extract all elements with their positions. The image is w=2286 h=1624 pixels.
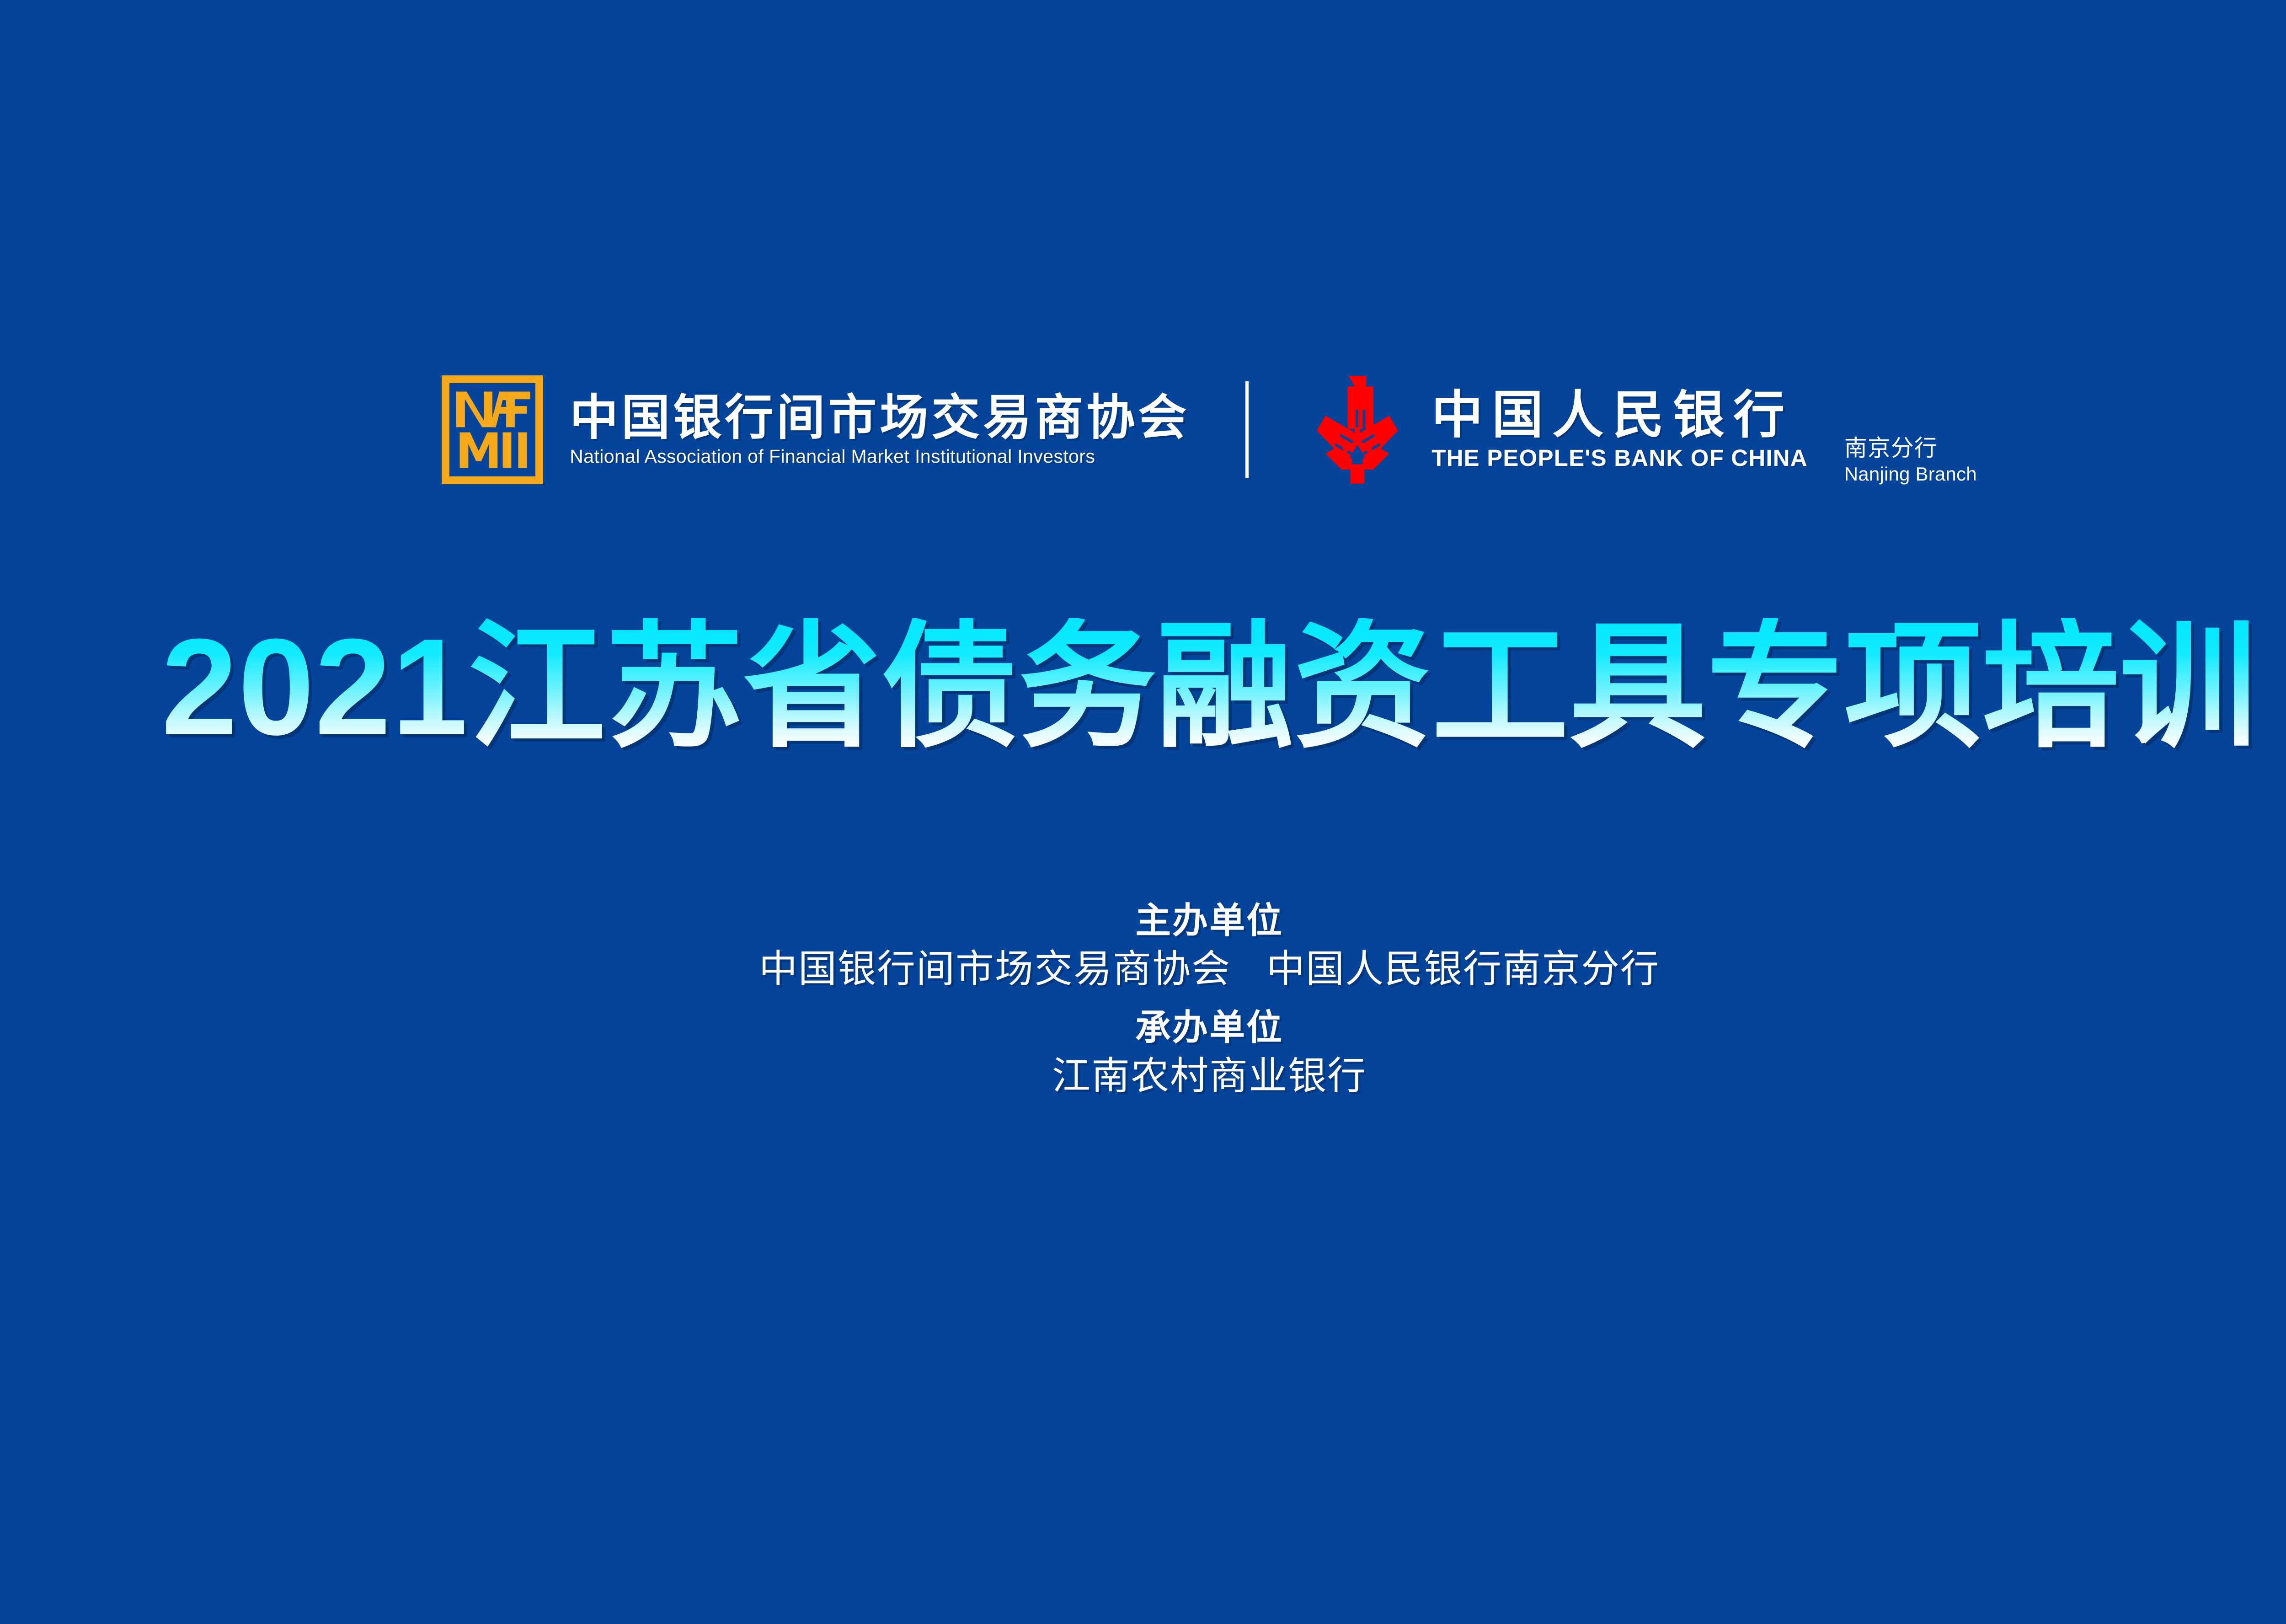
- host-names-row: 中国银行间市场交易商协会中国人民银行南京分行: [0, 944, 2286, 994]
- pboc-branch-block: 南京分行 Nanjing Branch: [1844, 436, 1977, 487]
- host-name-primary: 中国银行间市场交易商协会: [759, 947, 1231, 990]
- organizer-name: 江南农村商业银行: [0, 1051, 2286, 1101]
- poster-title: 2021江苏省债务融资工具专项培训: [0, 618, 2286, 755]
- organizer-spacer: [0, 994, 2286, 1004]
- nafmii-logo-lockup: 中国银行间市场交易商协会 National Association of Fin…: [442, 375, 1190, 484]
- pboc-branch-en: Nanjing Branch: [1844, 464, 1977, 485]
- nafmii-wordmark: 中国银行间市场交易商协会 National Association of Fin…: [570, 393, 1190, 467]
- host-name-secondary: 中国人民银行南京分行: [1266, 947, 1660, 990]
- training-poster: 中国银行间市场交易商协会 National Association of Fin…: [0, 0, 2286, 1624]
- pboc-name-cn: 中国人民银行: [1431, 389, 1808, 441]
- logo-group: 中国银行间市场交易商协会 National Association of Fin…: [442, 372, 1977, 487]
- nafmii-logo-icon: [442, 375, 543, 484]
- host-label: 主办单位: [0, 897, 2286, 944]
- pboc-branch-cn: 南京分行: [1844, 436, 1977, 461]
- pboc-logo-lockup: 中国人民银行 THE PEOPLE'S BANK OF CHINA 南京分行 N…: [1304, 372, 1977, 487]
- nafmii-name-cn: 中国银行间市场交易商协会: [570, 393, 1190, 443]
- pboc-name-en: THE PEOPLE'S BANK OF CHINA: [1431, 446, 1808, 470]
- logo-bar: 中国银行间市场交易商协会 National Association of Fin…: [0, 361, 2286, 498]
- pboc-wordmark: 中国人民银行 THE PEOPLE'S BANK OF CHINA: [1431, 389, 1808, 470]
- pboc-emblem-icon: [1304, 372, 1410, 487]
- nafmii-name-en: National Association of Financial Market…: [570, 446, 1190, 467]
- logo-divider: [1245, 381, 1249, 478]
- organizer-label: 承办单位: [0, 1004, 2286, 1051]
- organizer-block: 主办单位 中国银行间市场交易商协会中国人民银行南京分行 承办单位 江南农村商业银…: [0, 897, 2286, 1101]
